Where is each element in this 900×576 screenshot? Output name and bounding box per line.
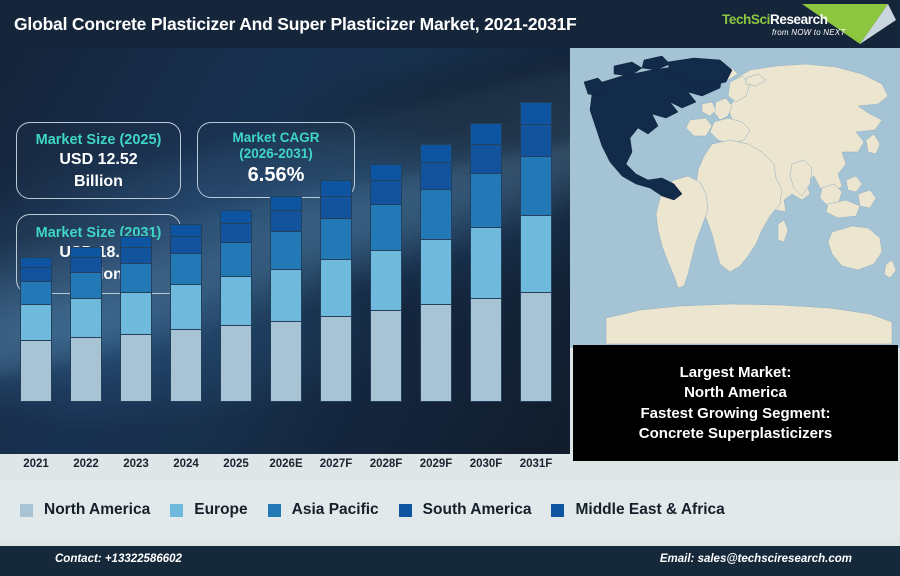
bar-segment-asia-pacific (220, 242, 252, 276)
stacked-bar-chart (0, 48, 570, 454)
bar-2030F (470, 123, 502, 402)
x-axis-label-2025: 2025 (208, 458, 264, 470)
bar-segment-middle-east-africa (220, 210, 252, 223)
bar-segment-europe (20, 304, 52, 341)
world-map-panel (570, 48, 900, 348)
legend-item-europe[interactable]: Europe (170, 501, 247, 519)
footer-email: Email: sales@techsciresearch.com (660, 553, 852, 565)
legend-label: North America (44, 501, 150, 519)
logo-wordmark: TechSciResearch (722, 12, 828, 27)
legend-label: Asia Pacific (292, 501, 379, 519)
legend-item-north-america[interactable]: North America (20, 501, 150, 519)
bar-segment-north-america (320, 316, 352, 402)
bar-segment-north-america (220, 325, 252, 402)
bar-segment-south-america (470, 144, 502, 173)
bar-segment-middle-east-africa (370, 164, 402, 181)
legend-item-south-america[interactable]: South America (399, 501, 532, 519)
bar-segment-north-america (520, 292, 552, 402)
x-axis-label-2027F: 2027F (308, 458, 364, 470)
bar-segment-europe (270, 269, 302, 321)
legend-item-middle-east-africa[interactable]: Middle East & Africa (551, 501, 724, 519)
x-axis-label-2028F: 2028F (358, 458, 414, 470)
chart-panel: Market Size (2025) USD 12.52 Billion Mar… (0, 48, 570, 454)
chart-legend: North AmericaEuropeAsia PacificSouth Ame… (0, 480, 900, 540)
world-map-icon (570, 48, 900, 348)
legend-label: South America (423, 501, 532, 519)
bar-segment-middle-east-africa (320, 180, 352, 195)
bar-segment-middle-east-africa (70, 247, 102, 257)
bar-2025 (220, 210, 252, 402)
bar-segment-middle-east-africa (470, 123, 502, 143)
bar-segment-europe (70, 298, 102, 337)
x-axis-label-2021: 2021 (8, 458, 64, 470)
bar-2027F (320, 180, 352, 402)
legend-swatch-icon (551, 504, 564, 517)
bar-segment-europe (420, 239, 452, 305)
legend-swatch-icon (20, 504, 33, 517)
bar-segment-middle-east-africa (120, 236, 152, 247)
footer-contact: Contact: +13322586602 (55, 553, 182, 565)
bar-segment-south-america (520, 124, 552, 156)
logo-tagline: from NOW to NEXT (772, 28, 845, 37)
bar-2022 (70, 247, 102, 402)
bar-segment-europe (470, 227, 502, 298)
bar-segment-asia-pacific (470, 173, 502, 228)
bar-segment-north-america (70, 337, 102, 402)
bar-segment-asia-pacific (270, 231, 302, 269)
bar-segment-south-america (320, 196, 352, 218)
bar-2021 (20, 257, 52, 402)
bar-segment-south-america (70, 257, 102, 272)
bar-segment-north-america (170, 329, 202, 402)
bar-segment-south-america (20, 267, 52, 281)
bar-2026E (270, 196, 302, 402)
bar-segment-europe (370, 250, 402, 311)
bar-segment-south-america (270, 210, 302, 231)
bar-segment-north-america (370, 310, 402, 402)
callout-fastest-segment-value: Concrete Superplasticizers (639, 424, 832, 443)
callout-fastest-segment-label: Fastest Growing Segment: (640, 404, 830, 423)
bar-segment-south-america (120, 247, 152, 263)
bar-segment-middle-east-africa (20, 257, 52, 266)
x-axis-label-2024: 2024 (158, 458, 214, 470)
callout-largest-market-label: Largest Market: (680, 363, 792, 382)
bar-segment-asia-pacific (70, 272, 102, 298)
bar-segment-asia-pacific (170, 253, 202, 284)
bar-segment-europe (320, 259, 352, 315)
page-title: Global Concrete Plasticizer And Super Pl… (14, 14, 577, 35)
bar-segment-asia-pacific (20, 281, 52, 304)
x-axis-label-2031F: 2031F (508, 458, 564, 470)
legend-label: Middle East & Africa (575, 501, 724, 519)
header-bar: Global Concrete Plasticizer And Super Pl… (0, 0, 900, 48)
legend-swatch-icon (268, 504, 281, 517)
bar-segment-asia-pacific (370, 204, 402, 249)
bar-segment-north-america (120, 334, 152, 402)
bar-segment-asia-pacific (520, 156, 552, 216)
bar-2028F (370, 164, 402, 402)
legend-swatch-icon (399, 504, 412, 517)
market-callout-box: Largest Market: North America Fastest Gr… (573, 345, 898, 461)
bar-segment-europe (520, 215, 552, 292)
bar-segment-europe (120, 292, 152, 334)
bar-2031F (520, 102, 552, 402)
x-axis-label-2022: 2022 (58, 458, 114, 470)
techsci-logo: TechSciResearch from NOW to NEXT (710, 0, 896, 48)
bar-segment-south-america (170, 236, 202, 253)
footer-bar: Contact: +13322586602 Email: sales@techs… (0, 546, 900, 576)
x-axis-labels: 202120222023202420252026E2027F2028F2029F… (0, 454, 570, 480)
bar-2029F (420, 144, 452, 402)
bar-segment-europe (220, 276, 252, 325)
bar-segment-north-america (470, 298, 502, 402)
callout-largest-market-value: North America (684, 383, 787, 402)
x-axis-label-2030F: 2030F (458, 458, 514, 470)
infographic-root: Global Concrete Plasticizer And Super Pl… (0, 0, 900, 576)
x-axis-label-2029F: 2029F (408, 458, 464, 470)
bar-segment-asia-pacific (320, 218, 352, 259)
logo-brand-primary: TechSci (722, 12, 770, 27)
bar-2024 (170, 224, 202, 402)
bar-segment-north-america (420, 304, 452, 402)
bar-segment-north-america (20, 340, 52, 402)
x-axis-label-2026E: 2026E (258, 458, 314, 470)
bar-segment-middle-east-africa (270, 196, 302, 210)
bar-segment-asia-pacific (120, 263, 152, 291)
bar-segment-europe (170, 284, 202, 329)
bar-segment-south-america (420, 162, 452, 189)
x-axis-label-2023: 2023 (108, 458, 164, 470)
bar-2023 (120, 236, 152, 402)
legend-label: Europe (194, 501, 247, 519)
bar-segment-middle-east-africa (170, 224, 202, 236)
legend-item-asia-pacific[interactable]: Asia Pacific (268, 501, 379, 519)
bar-segment-middle-east-africa (520, 102, 552, 124)
bar-segment-south-america (220, 223, 252, 242)
bar-segment-middle-east-africa (420, 144, 452, 162)
logo-brand-secondary: Research (770, 12, 828, 27)
bar-segment-asia-pacific (420, 189, 452, 239)
bar-segment-south-america (370, 180, 402, 204)
bar-segment-north-america (270, 321, 302, 402)
legend-swatch-icon (170, 504, 183, 517)
